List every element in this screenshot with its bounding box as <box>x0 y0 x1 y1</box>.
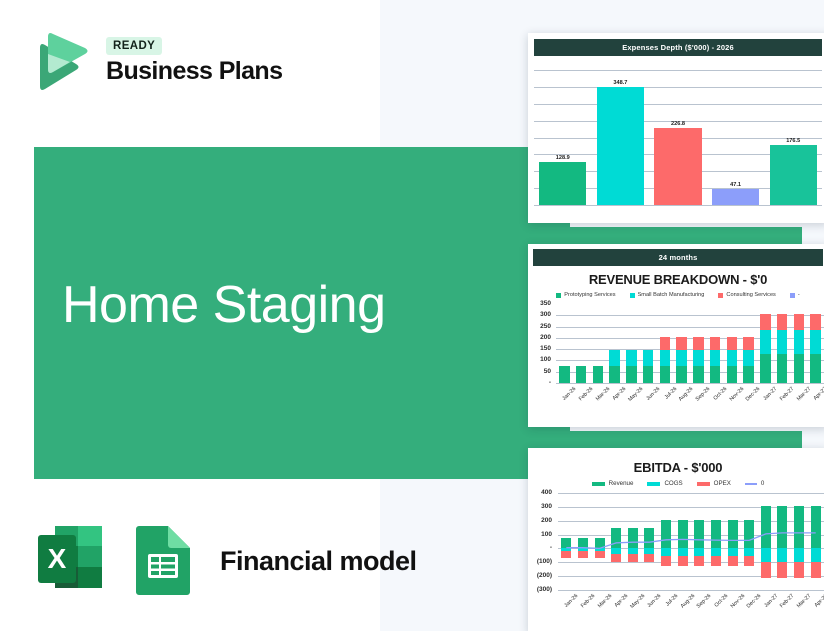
stack-segment <box>743 366 753 383</box>
bar <box>770 145 817 205</box>
stack-segment <box>694 520 704 548</box>
stack-segment <box>727 350 737 366</box>
legend-item: OPEX <box>697 480 731 487</box>
stack-segment <box>559 366 569 383</box>
footer-label: Financial model <box>220 546 417 577</box>
legend-item: Small Batch Manufacturing <box>630 292 705 298</box>
stack-segment <box>611 528 621 548</box>
stack-segment <box>644 554 654 562</box>
stack-segment <box>644 528 654 548</box>
stack-segment <box>693 337 703 351</box>
legend-line-swatch <box>745 483 757 485</box>
stack-segment <box>561 538 571 548</box>
legend-label: Prototyping Services <box>564 292 615 298</box>
stack-segment <box>561 551 571 558</box>
stack-segment <box>678 548 688 556</box>
ready-badge: READY <box>106 37 162 55</box>
footer-group: X Financial model <box>32 520 417 603</box>
gridline <box>534 205 822 206</box>
legend-color-swatch <box>718 293 723 298</box>
stack-segment <box>595 551 605 558</box>
x-axis-tick: Jan-26 <box>560 593 580 613</box>
legend-color-swatch <box>556 293 561 298</box>
stack-segment <box>626 350 636 366</box>
accent-edge-revenue <box>510 227 528 245</box>
y-axis-tick: 50 <box>528 368 551 375</box>
stack-segment <box>609 350 619 366</box>
stack-segment <box>710 350 720 366</box>
stack-segment <box>661 548 671 556</box>
stack-segment <box>760 330 770 354</box>
brand-text-block: READY Business Plans <box>106 37 282 84</box>
stack-segment <box>694 548 704 556</box>
bar-value-label: 348.7 <box>597 80 644 86</box>
bar <box>597 87 644 205</box>
gridline <box>534 104 822 105</box>
legend-label: COGS <box>664 480 682 487</box>
stack-segment <box>710 337 720 351</box>
x-axis-tick: Feb-26 <box>574 386 594 406</box>
revenue-legend: Prototyping ServicesSmall Batch Manufact… <box>528 287 824 300</box>
bar <box>539 162 586 206</box>
y-axis-tick: (300) <box>528 586 552 593</box>
ebitda-plot-area: 400300200100-(100)(200)(300)Jan-26Feb-26… <box>528 489 824 614</box>
chart-card-expenses[interactable]: Expenses Depth ($'000) - 2026 128.9348.7… <box>528 33 824 223</box>
brand-name: Business Plans <box>106 58 282 84</box>
stack-segment <box>777 314 787 330</box>
stack-segment <box>810 330 820 354</box>
stack-segment <box>794 506 804 548</box>
legend-item: - <box>790 292 800 298</box>
stack-segment <box>743 350 753 366</box>
double-play-logo-icon <box>30 28 92 94</box>
x-axis-tick: Feb-26 <box>576 593 596 613</box>
y-axis-tick: 100 <box>528 531 552 538</box>
y-axis-tick: 150 <box>528 345 551 352</box>
stack-segment <box>595 538 605 548</box>
svg-text:X: X <box>48 543 67 574</box>
stack-segment <box>811 506 821 548</box>
x-axis-tick: Sep-26 <box>692 386 712 406</box>
stack-segment <box>727 337 737 351</box>
stack-segment <box>694 556 704 566</box>
brand-logo-group[interactable]: READY Business Plans <box>30 28 282 94</box>
legend-label: Revenue <box>609 480 634 487</box>
legend-item: 0 <box>745 480 764 487</box>
stack-segment <box>761 548 771 561</box>
stack-segment <box>626 366 636 383</box>
stack-segment <box>676 350 686 366</box>
google-sheets-icon[interactable] <box>128 520 196 603</box>
stack-segment <box>660 366 670 383</box>
stack-segment <box>678 520 688 548</box>
stack-segment <box>643 366 653 383</box>
microsoft-excel-icon[interactable]: X <box>32 520 110 603</box>
legend-bar-swatch <box>647 482 660 486</box>
gridline <box>534 87 822 88</box>
y-axis-tick: (200) <box>528 572 552 579</box>
stack-segment <box>611 554 621 562</box>
chart-card-ebitda[interactable]: EBITDA - $'000 RevenueCOGSOPEX0 40030020… <box>528 448 824 631</box>
stack-segment <box>810 354 820 383</box>
legend-item: Consulting Services <box>718 292 775 298</box>
stack-segment <box>660 350 670 366</box>
stack-segment <box>678 556 688 566</box>
stack-segment <box>794 314 804 330</box>
accent-strip-ebitda <box>510 431 802 448</box>
x-axis-tick: May-26 <box>625 386 645 406</box>
stack-segment <box>676 366 686 383</box>
x-axis-tick: Jul-26 <box>660 593 680 613</box>
stack-segment <box>628 528 638 548</box>
x-axis-tick: Jan-26 <box>558 386 578 406</box>
stack-segment <box>777 506 787 548</box>
stack-segment <box>744 548 754 556</box>
stack-segment <box>576 366 586 383</box>
hero-panel: Home Staging <box>34 147 570 479</box>
legend-label: - <box>798 292 800 298</box>
stack-segment <box>578 538 588 548</box>
bar-value-label: 128.9 <box>539 155 586 161</box>
chart-card-revenue[interactable]: 24 months REVENUE BREAKDOWN - $'0 Protot… <box>528 244 824 427</box>
x-axis-tick: Oct-26 <box>708 386 728 406</box>
stack-segment <box>693 350 703 366</box>
legend-color-swatch <box>790 293 795 298</box>
y-axis-tick: 250 <box>528 323 551 330</box>
stack-segment <box>660 337 670 351</box>
y-axis-tick: 400 <box>528 489 552 496</box>
gridline <box>556 383 824 384</box>
revenue-plot-area: 35030025020015010050-Jan-26Feb-26Mar-26A… <box>528 300 824 405</box>
stack-segment <box>761 506 771 548</box>
legend-item: COGS <box>647 480 682 487</box>
ebitda-chart-title: EBITDA - $'000 <box>528 448 824 475</box>
revenue-header-band: 24 months <box>533 249 823 266</box>
stack-segment <box>710 366 720 383</box>
stack-segment <box>676 337 686 351</box>
stack-segment <box>693 366 703 383</box>
bar-value-label: 176.5 <box>770 138 817 144</box>
stack-segment <box>777 330 787 354</box>
stack-segment <box>794 354 804 383</box>
gridline <box>534 70 822 71</box>
stack-segment <box>760 354 770 383</box>
y-axis-tick: 350 <box>528 300 551 307</box>
accent-strip-revenue <box>510 227 802 244</box>
legend-bar-swatch <box>697 482 710 486</box>
legend-color-swatch <box>630 293 635 298</box>
y-axis-tick: 200 <box>528 334 551 341</box>
stack-segment <box>728 556 738 566</box>
bar-value-label: 226.8 <box>654 121 701 127</box>
revenue-chart-title: REVENUE BREAKDOWN - $'0 <box>528 266 824 287</box>
bar <box>654 128 701 205</box>
stack-segment <box>810 314 820 330</box>
y-axis-tick: 100 <box>528 356 551 363</box>
stack-segment <box>794 562 804 578</box>
stack-segment <box>777 548 787 561</box>
stack-segment <box>744 520 754 548</box>
legend-label: OPEX <box>714 480 731 487</box>
stack-segment <box>711 520 721 548</box>
stack-segment <box>593 366 603 383</box>
bar <box>712 189 759 205</box>
accent-edge-ebitda <box>510 431 528 449</box>
ebitda-legend: RevenueCOGSOPEX0 <box>528 475 824 489</box>
expenses-plot-area: 128.9348.7226.847.1176.5 <box>528 56 824 211</box>
stack-segment <box>711 548 721 556</box>
stack-segment <box>743 337 753 351</box>
stack-segment <box>728 548 738 556</box>
stack-segment <box>628 554 638 562</box>
bar-value-label: 47.1 <box>712 182 759 188</box>
y-axis-tick: - <box>528 544 552 551</box>
x-axis-tick: Mar-27 <box>793 593 813 613</box>
stack-segment <box>661 556 671 566</box>
y-axis-tick: 300 <box>528 503 552 510</box>
x-axis-tick: Jan-27 <box>759 386 779 406</box>
stack-segment <box>727 366 737 383</box>
slide-canvas: READY Business Plans Home Staging X <box>0 0 824 631</box>
stack-segment <box>711 556 721 566</box>
x-axis-tick: Oct-26 <box>709 593 729 613</box>
stack-segment <box>794 330 804 354</box>
y-axis-tick: (100) <box>528 558 552 565</box>
legend-label: Small Batch Manufacturing <box>638 292 705 298</box>
x-axis-tick: Jun-26 <box>641 386 661 406</box>
page-title: Home Staging <box>62 275 386 335</box>
stack-segment <box>643 350 653 366</box>
legend-item: Revenue <box>592 480 634 487</box>
stack-segment <box>794 548 804 561</box>
gridline <box>558 493 824 494</box>
legend-bar-swatch <box>592 482 605 486</box>
stack-segment <box>760 314 770 330</box>
stack-segment <box>744 556 754 566</box>
stack-segment <box>777 562 787 578</box>
legend-label: Consulting Services <box>726 292 775 298</box>
stack-segment <box>811 562 821 578</box>
stack-segment <box>761 562 771 578</box>
stack-segment <box>661 520 671 548</box>
stack-segment <box>811 548 821 561</box>
x-axis-tick: Feb-27 <box>775 386 795 406</box>
legend-item: Prototyping Services <box>556 292 615 298</box>
stack-segment <box>609 366 619 383</box>
expenses-header-band: Expenses Depth ($'000) - 2026 <box>534 39 822 56</box>
stack-segment <box>728 520 738 548</box>
gridline <box>558 590 824 591</box>
stack-segment <box>578 551 588 558</box>
y-axis-tick: - <box>528 379 551 386</box>
stack-segment <box>777 354 787 383</box>
y-axis-tick: 200 <box>528 517 552 524</box>
legend-label: 0 <box>761 480 764 487</box>
y-axis-tick: 300 <box>528 311 551 318</box>
